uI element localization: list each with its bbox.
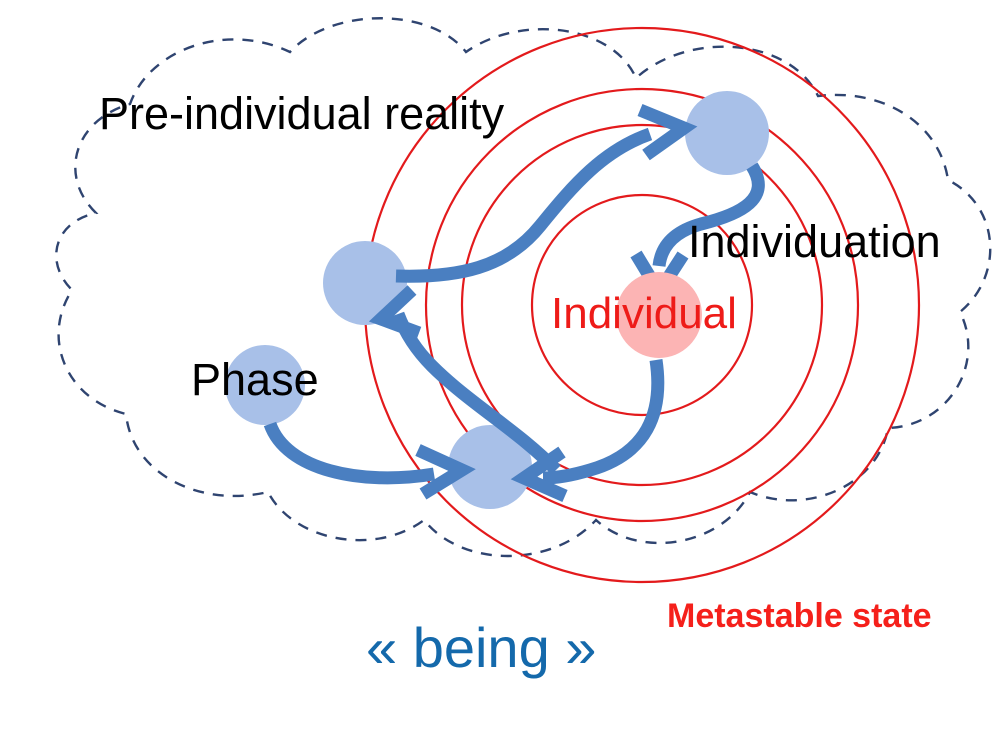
label-individual: Individual	[551, 292, 737, 336]
label-being: « being »	[366, 620, 596, 676]
diagram-canvas: Pre-individual reality Individuation Ind…	[0, 0, 1004, 731]
label-individuation: Individuation	[688, 219, 941, 264]
label-metastable-state: Metastable state	[667, 599, 932, 633]
arrow-phase-to-bottom-shaft	[270, 424, 434, 478]
label-phase: Phase	[191, 357, 319, 402]
node-top-right	[685, 91, 769, 175]
label-pre-individual-reality: Pre-individual reality	[99, 91, 504, 136]
arrow-left-to-topright-shaft	[396, 134, 650, 276]
